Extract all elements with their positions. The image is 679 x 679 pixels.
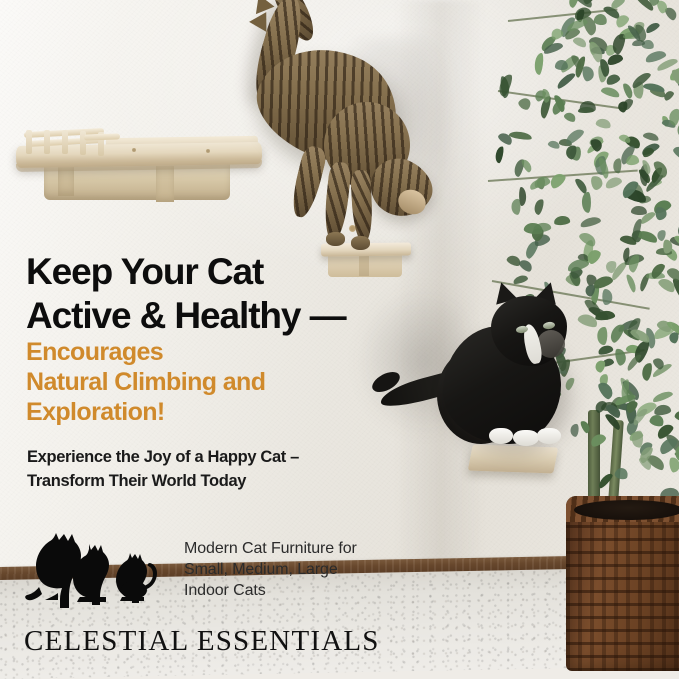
tabby-cat-front-leg xyxy=(322,161,352,241)
plant-leaf xyxy=(579,215,601,229)
brand-name: CELESTIAL ESSENTIALS xyxy=(24,625,380,658)
shelf-rail-top-2 xyxy=(84,133,120,140)
plant-leaf xyxy=(555,71,576,90)
plant-leaf xyxy=(578,230,598,248)
plant-leaf xyxy=(509,130,533,141)
tabby-cat-hind-leg xyxy=(288,144,329,220)
page-title: Keep Your Cat Active & Healthy — xyxy=(26,250,345,338)
plant-leaf xyxy=(590,174,604,190)
plant-leaf xyxy=(582,192,591,213)
tuxedo-cat-paw xyxy=(513,430,539,446)
plant-leaf xyxy=(547,170,567,190)
plant-leaf xyxy=(563,110,577,123)
tagline: Experience the Joy of a Happy Cat – Tran… xyxy=(27,445,299,493)
wicker-basket xyxy=(566,496,679,671)
plant-leaf xyxy=(642,130,659,141)
plant-leaf xyxy=(597,380,616,401)
plant-leaf xyxy=(578,107,594,114)
plant-leaf xyxy=(595,118,612,130)
three-cat-silhouettes-icon xyxy=(22,524,180,616)
tabby-cat-paw xyxy=(351,236,370,250)
plant-leaf xyxy=(645,20,662,34)
ad-creative: Keep Your Cat Active & Healthy — Encoura… xyxy=(0,0,679,679)
shelf-bracket-leg xyxy=(156,166,174,202)
plant-leaf xyxy=(554,215,571,225)
shelf-rail-post xyxy=(26,130,32,154)
plant-leaf xyxy=(674,408,679,424)
plant-leaf xyxy=(511,198,521,215)
plant-leaf xyxy=(521,158,534,173)
plant-leaf xyxy=(654,404,672,416)
basket-soil xyxy=(574,500,679,520)
basket-weave xyxy=(566,496,679,671)
shelf-notch xyxy=(359,256,369,276)
plant-leaf xyxy=(594,13,609,26)
plant-leaf xyxy=(632,431,643,448)
plant-leaf xyxy=(652,389,674,403)
plant-leaf xyxy=(517,95,533,111)
tuxedo-cat xyxy=(385,278,595,463)
tuxedo-cat-paw xyxy=(537,428,561,444)
shelf-screw xyxy=(132,148,136,152)
plant-leaf xyxy=(582,66,595,82)
tabby-cat xyxy=(252,0,432,256)
shelf-rail-post xyxy=(62,130,68,154)
product-description: Modern Cat Furniture for Small, Medium, … xyxy=(184,538,357,601)
subheadline: Encourages Natural Climbing and Explorat… xyxy=(26,337,265,427)
tuxedo-cat-paw xyxy=(489,428,513,444)
plant-leaf xyxy=(625,273,637,293)
plant-leaf xyxy=(597,327,608,346)
plant-leaf xyxy=(533,53,544,76)
plant-leaf xyxy=(563,127,585,147)
shelf-rail-post xyxy=(44,130,50,154)
plant-leaf xyxy=(533,198,545,215)
plant-leaf xyxy=(641,362,654,382)
tabby-cat-paw xyxy=(326,232,345,246)
plant-leaf xyxy=(617,100,629,113)
plant-leaf xyxy=(494,146,505,164)
plant-leaf xyxy=(600,85,621,99)
plant-leaf xyxy=(594,359,606,373)
plant-leaf xyxy=(518,257,534,273)
shelf-screw xyxy=(206,149,210,153)
plant-leaf xyxy=(614,347,627,366)
plant-leaf xyxy=(671,144,679,162)
wall-shelf-with-rail xyxy=(6,112,266,208)
